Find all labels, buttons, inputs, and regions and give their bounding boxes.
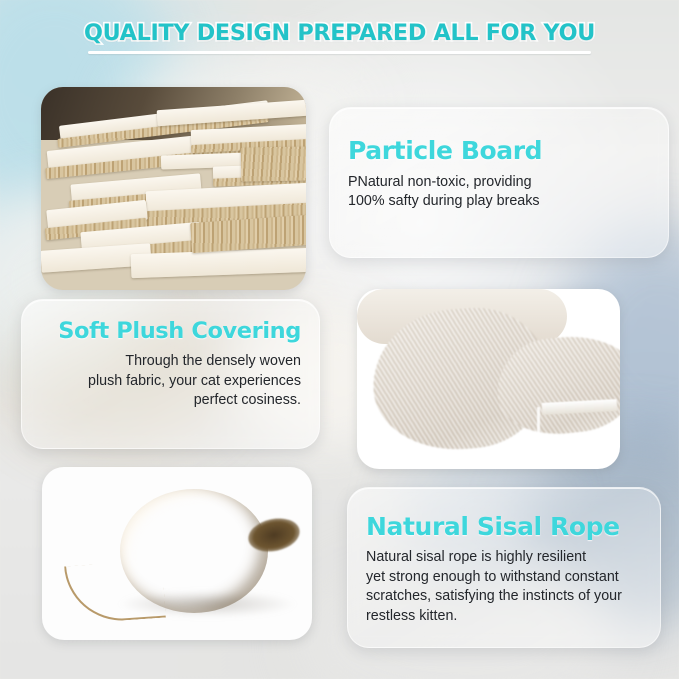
feature-body-particle-board: PNatural non-toxic, providing 100% safty… <box>330 165 668 211</box>
feature-title-particle-board: Particle Board <box>330 108 668 165</box>
plank-edge <box>241 146 306 181</box>
feature-card-particle-board: Particle Board PNatural non-toxic, provi… <box>329 107 669 258</box>
natural-sisal-rope-photo <box>42 467 312 640</box>
soft-plush-covering-photo <box>357 289 620 469</box>
feature-title-soft-plush-covering: Soft Plush Covering <box>22 300 319 344</box>
feature-title-natural-sisal-rope: Natural Sisal Rope <box>348 488 660 541</box>
body-line: perfect cosiness. <box>22 391 301 411</box>
body-line: 100% safty during play breaks <box>348 192 668 211</box>
body-line: Natural sisal rope is highly resilient <box>366 548 650 568</box>
body-line: scratches, satisfying the instincts of y… <box>366 587 650 607</box>
header-divider <box>88 51 591 54</box>
plank <box>131 248 306 278</box>
plush-fabric-seam <box>537 407 540 465</box>
poster-header: QUALITY DESIGN PREPARED ALL FOR YOU <box>0 0 679 62</box>
feature-body-soft-plush-covering: Through the densely woven plush fabric, … <box>22 344 319 411</box>
feature-body-natural-sisal-rope: Natural sisal rope is highly resilient y… <box>348 541 660 626</box>
body-line: restless kitten. <box>366 607 650 627</box>
rope-ball-center-hole <box>245 514 303 556</box>
feature-card-natural-sisal-rope: Natural Sisal Rope Natural sisal rope is… <box>347 487 661 648</box>
particle-board-photo <box>41 87 306 290</box>
body-line: plush fabric, your cat experiences <box>22 372 301 392</box>
product-feature-infographic: QUALITY DESIGN PREPARED ALL FOR YOU <box>0 0 679 679</box>
rope-ball <box>120 489 268 613</box>
body-line: PNatural non-toxic, providing <box>348 173 668 192</box>
particle-board-photo-content <box>41 87 306 290</box>
feature-card-soft-plush-covering: Soft Plush Covering Through the densely … <box>21 299 320 449</box>
body-line: Through the densely woven <box>22 352 301 372</box>
body-line: yet strong enough to withstand constant <box>366 568 650 588</box>
page-title: QUALITY DESIGN PREPARED ALL FOR YOU <box>3 20 675 46</box>
